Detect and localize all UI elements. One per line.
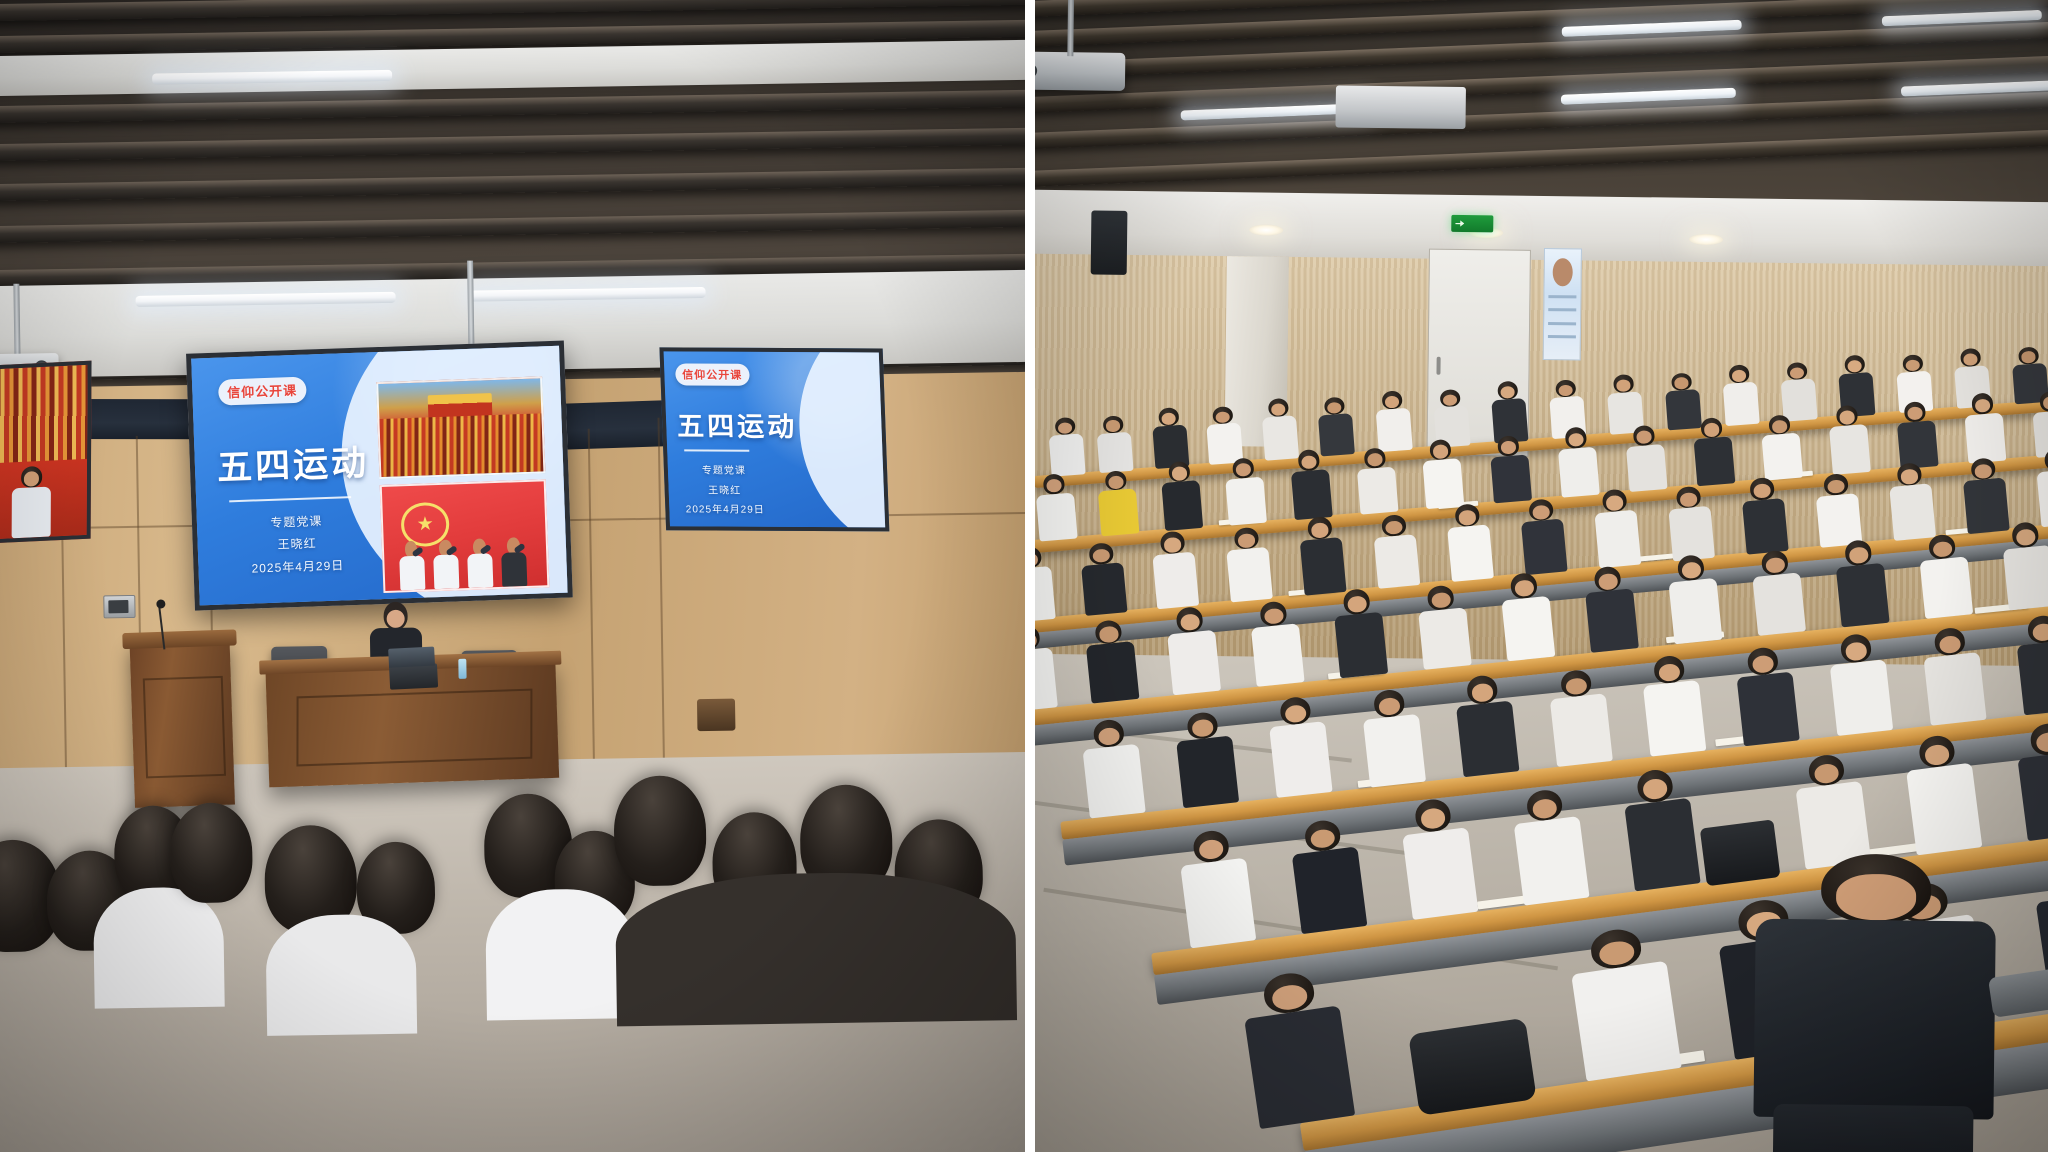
panel-divider <box>1025 0 1035 1152</box>
slide-badge-label: 信仰公开课 <box>227 383 297 400</box>
left-photo-panel: ★ <box>0 0 1025 1152</box>
side-slide-subtitle-line: 专题党课 <box>678 462 769 477</box>
microphone-icon <box>156 599 165 608</box>
slide-image-salute: ★ <box>380 480 550 593</box>
photo-composite: ★ <box>0 0 2048 1152</box>
projector-mount-pole <box>1067 0 1074 56</box>
side-projection-screen-left: ★ <box>0 361 92 551</box>
air-conditioner-vent <box>1335 85 1466 129</box>
slide-content: 信仰公开课 五四运动 专题党课 王晓红 2025年4月29日 ★ <box>191 346 567 606</box>
slide-image-march <box>376 376 545 480</box>
wall-speaker <box>1091 210 1128 274</box>
downlight <box>1689 234 1723 245</box>
side-projection-screen-right: 信仰公开课 五四运动 专题党课 王晓红 2025年4月29日 <box>659 347 889 531</box>
side-slide-badge-label: 信仰公开课 <box>682 370 742 382</box>
wall-notice-poster <box>1543 248 1582 360</box>
laptop <box>389 663 438 689</box>
wall-control-panel[interactable] <box>103 595 135 618</box>
exit-sign <box>1451 215 1493 233</box>
star-icon: ★ <box>416 514 434 534</box>
slide-badge: 信仰公开课 <box>218 377 307 406</box>
side-slide-title: 五四运动 <box>676 404 798 444</box>
side-slide-subtitle-line: 2025年4月29日 <box>680 500 771 515</box>
water-bottle <box>458 659 466 679</box>
backpack <box>1408 1018 1537 1116</box>
lectern <box>130 640 235 808</box>
right-photo-panel <box>1035 0 2048 1152</box>
projector-mount-pole <box>13 284 20 356</box>
slide-title: 五四运动 <box>216 434 370 490</box>
ceiling-projector <box>1035 52 1125 91</box>
main-projection-screen: 信仰公开课 五四运动 专题党课 王晓红 2025年4月29日 ★ <box>186 341 573 611</box>
side-slide-subtitle-line: 王晓红 <box>679 481 770 496</box>
stool <box>697 699 735 732</box>
downlight <box>1249 224 1283 235</box>
exit-icon <box>1455 219 1464 228</box>
front-row-student <box>1748 853 2002 1152</box>
